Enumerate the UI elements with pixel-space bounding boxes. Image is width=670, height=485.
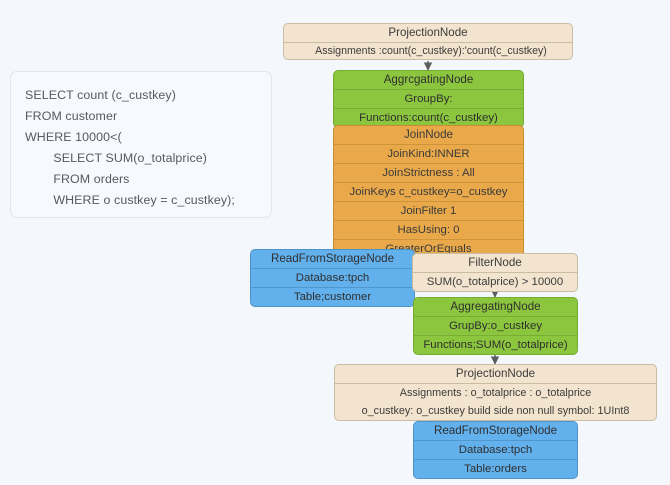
node-projection-top[interactable]: ProjectionNode Assignments :count(c_cust… bbox=[283, 23, 573, 60]
sql-line: WHERE o custkey = c_custkey); bbox=[25, 190, 257, 211]
node-read-from-storage-customer[interactable]: ReadFromStorageNode Database:tpch Table;… bbox=[250, 249, 415, 307]
node-database: Database:tpch bbox=[251, 268, 414, 287]
query-plan-diagram: SELECT count (c_custkey) FROM customer W… bbox=[0, 0, 670, 485]
sql-line: SELECT SUM(o_totalprice) bbox=[25, 148, 257, 169]
node-read-from-storage-orders[interactable]: ReadFromStorageNode Database:tpch Table:… bbox=[413, 421, 578, 479]
node-title: AggrcgatingNode bbox=[334, 71, 523, 89]
node-title: ReadFromStorageNode bbox=[414, 422, 577, 440]
node-projection-bottom[interactable]: ProjectionNode Assignments : o_totalpric… bbox=[334, 364, 657, 421]
node-filter[interactable]: FilterNode SUM(o_totalprice) > 10000 bbox=[412, 253, 578, 292]
node-title: ProjectionNode bbox=[335, 365, 656, 383]
node-group-by: GrupBy:o_custkey bbox=[414, 316, 577, 335]
node-table: Table;customer bbox=[251, 287, 414, 306]
node-aggregating-bottom[interactable]: AggregatingNode GrupBy:o_custkey Functio… bbox=[413, 297, 578, 355]
node-join-keys: JoinKeys c_custkey=o_custkey bbox=[334, 182, 523, 201]
node-predicate: SUM(o_totalprice) > 10000 bbox=[413, 272, 577, 291]
node-assignments: Assignments :count(c_custkey):'count(c_c… bbox=[283, 42, 573, 59]
node-join-strictness: JoinStrictness : All bbox=[334, 163, 523, 182]
sql-query-panel: SELECT count (c_custkey) FROM customer W… bbox=[10, 71, 272, 218]
sql-line: SELECT count (c_custkey) bbox=[25, 85, 257, 106]
node-join[interactable]: JoinNode JoinKind:INNER JoinStrictness :… bbox=[333, 125, 524, 259]
node-title: JoinNode bbox=[334, 126, 523, 144]
node-title: ReadFromStorageNode bbox=[251, 250, 414, 268]
node-title: FilterNode bbox=[413, 254, 577, 272]
sql-line: FROM customer bbox=[25, 106, 257, 127]
sql-line: FROM orders bbox=[25, 169, 257, 190]
node-database: Database:tpch bbox=[414, 440, 577, 459]
node-title: AggregatingNode bbox=[414, 298, 577, 316]
node-aggregating-top[interactable]: AggrcgatingNode GroupBy: Functions:count… bbox=[333, 70, 524, 128]
node-assignments-line1: Assignments : o_totalprice : o_totalpric… bbox=[335, 383, 656, 402]
node-assignments-line2: o_custkey: o_custkey build side non null… bbox=[335, 402, 656, 420]
node-join-kind: JoinKind:INNER bbox=[334, 144, 523, 163]
sql-line: WHERE 10000<( bbox=[25, 127, 257, 148]
node-functions: Functions;SUM(o_totalprice) bbox=[414, 335, 577, 354]
node-has-using: HasUsing: 0 bbox=[334, 220, 523, 239]
node-title: ProjectionNode bbox=[284, 24, 572, 42]
node-table: Table:orders bbox=[414, 459, 577, 478]
node-join-filter: JoinFilter 1 bbox=[334, 201, 523, 220]
node-group-by: GroupBy: bbox=[334, 89, 523, 108]
